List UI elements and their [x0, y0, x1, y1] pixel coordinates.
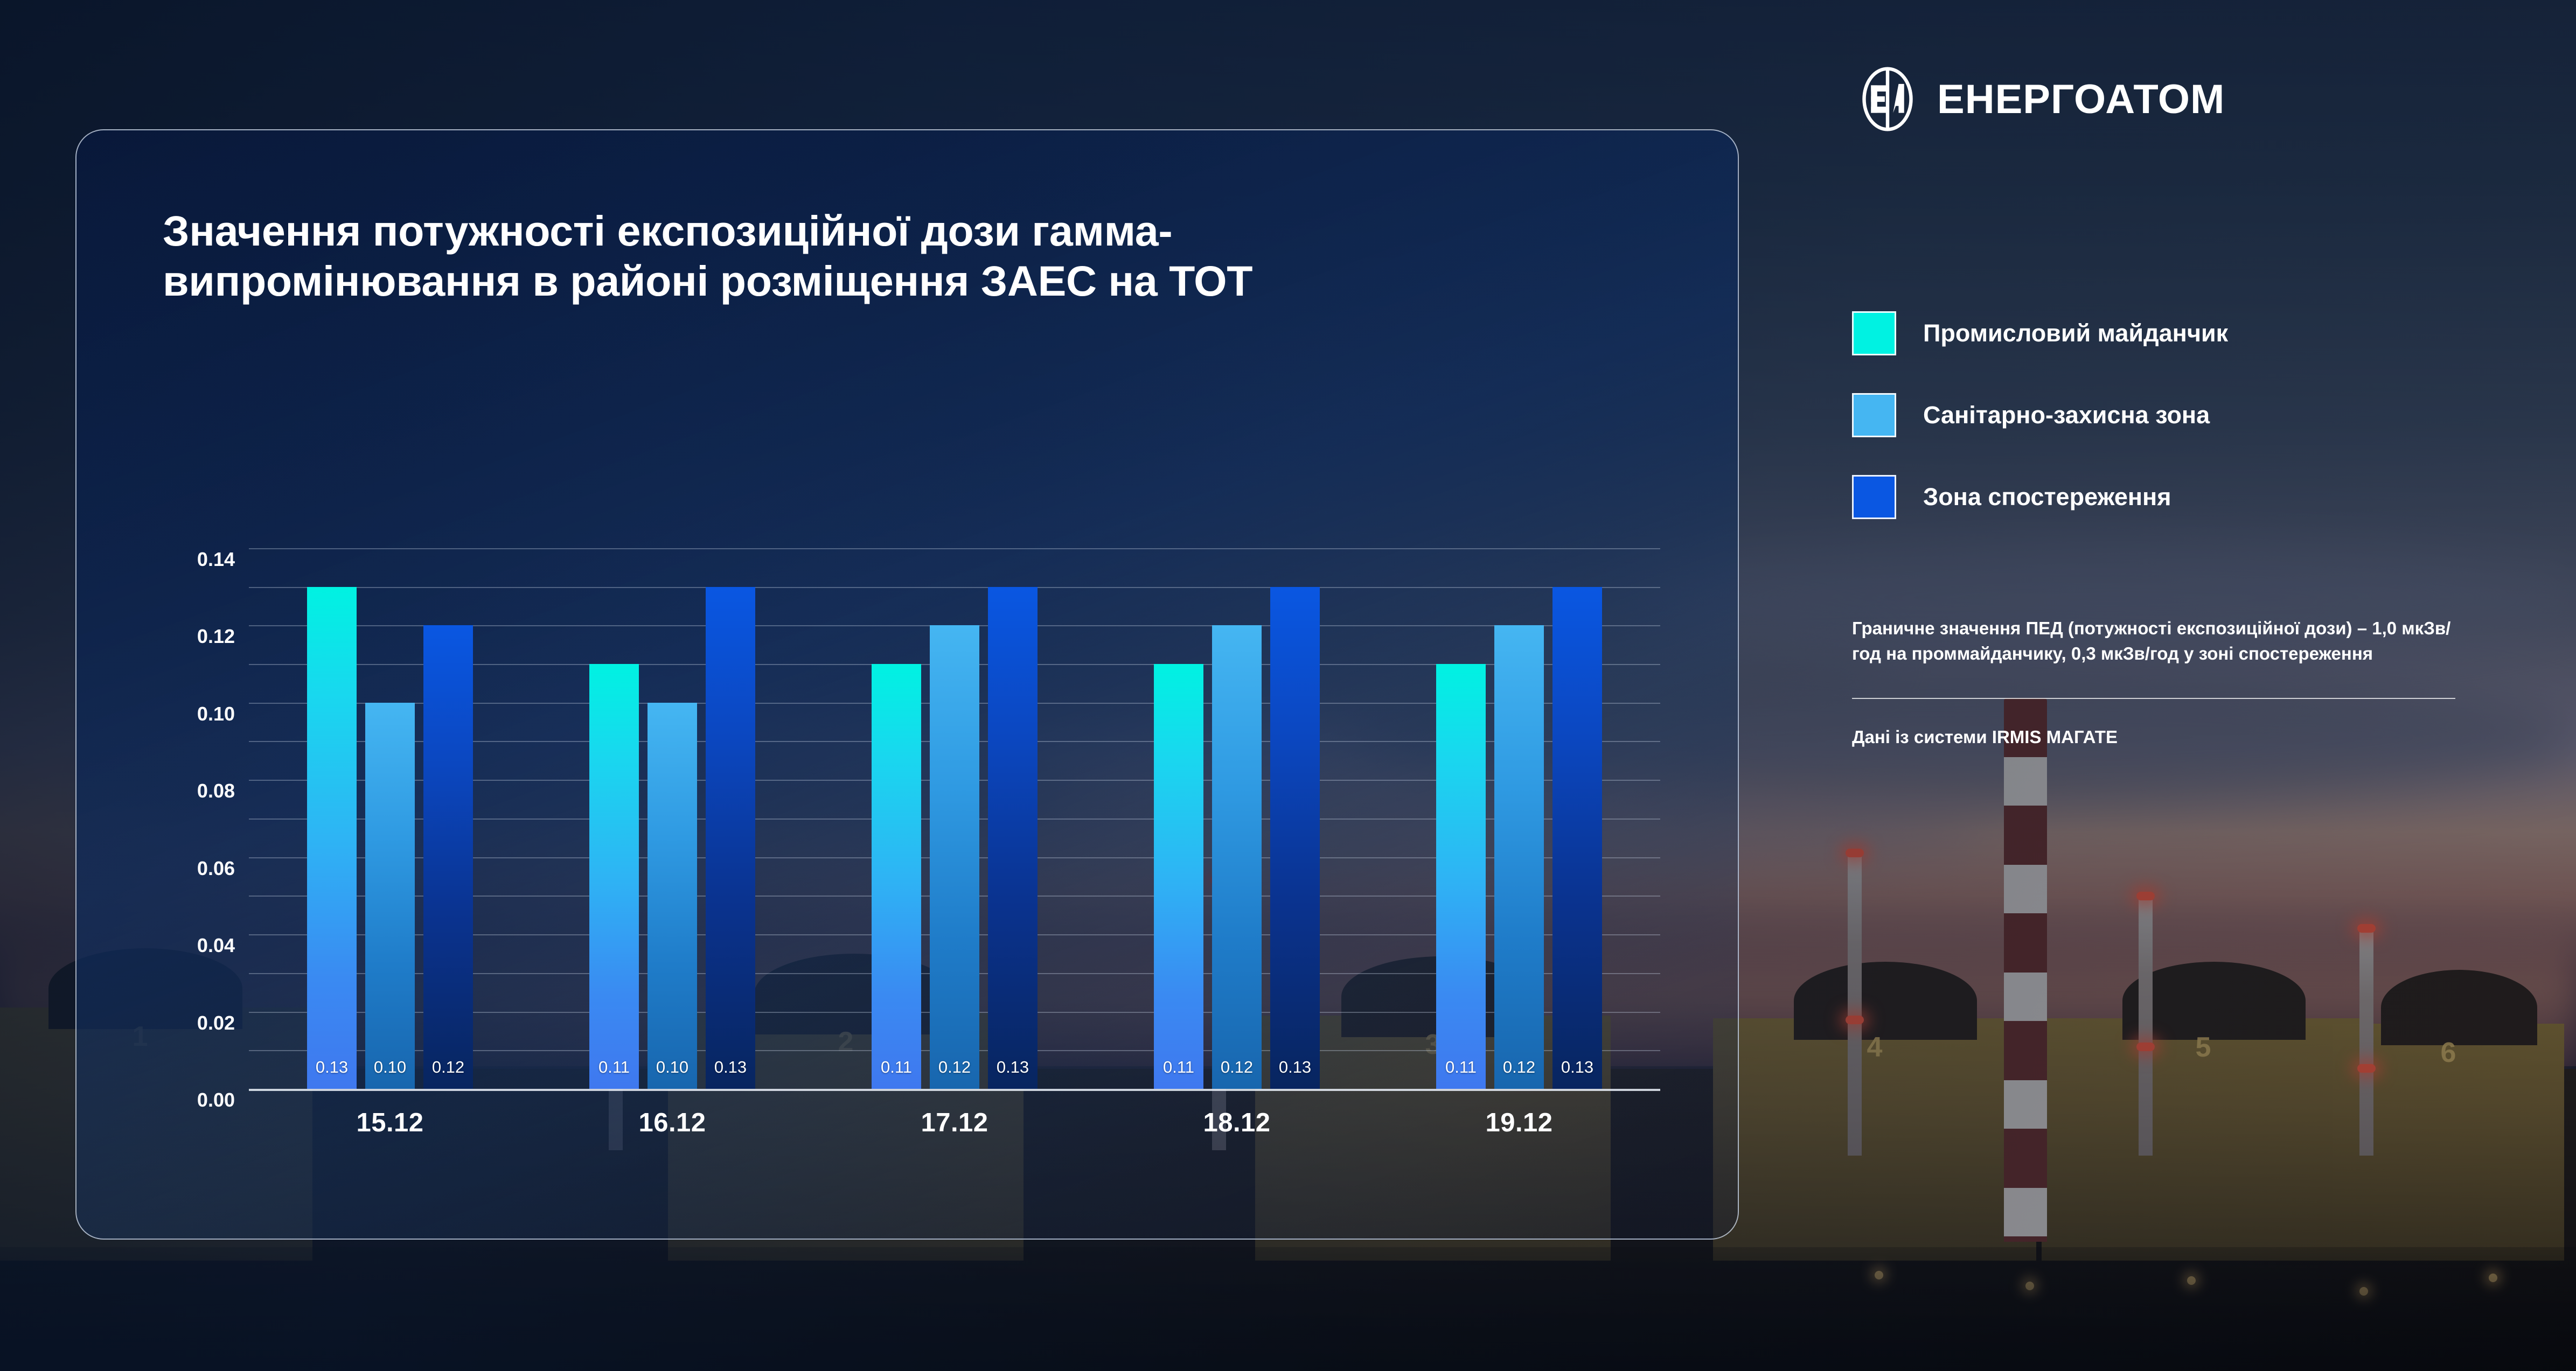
legend-item-label: Зона спостереження — [1923, 483, 2171, 511]
bar[interactable]: 0.12 — [1212, 625, 1262, 1089]
bar-value-label: 0.13 — [714, 1058, 747, 1077]
bar-group: 0.130.100.12 — [249, 529, 531, 1089]
energoatom-ea-oval-monogram-icon — [1853, 65, 1922, 134]
bar[interactable]: 0.13 — [1270, 587, 1320, 1089]
bar[interactable]: 0.12 — [423, 625, 473, 1089]
bar-value-label: 0.13 — [997, 1058, 1029, 1077]
bar[interactable]: 0.13 — [1552, 587, 1602, 1089]
bar[interactable]: 0.11 — [1154, 664, 1203, 1089]
side-panel: ЕНЕРГОАТОМ Промисловий майданчикСанітарн… — [1821, 65, 2521, 747]
logo-wordmark: ЕНЕРГОАТОМ — [1937, 76, 2225, 123]
page-title: Значення потужності експозиційної дози г… — [163, 206, 1509, 306]
y-axis-tick-labels: 0.140.120.100.080.060.040.020.00 — [163, 529, 243, 1089]
bar[interactable]: 0.13 — [706, 587, 755, 1089]
bar[interactable]: 0.10 — [365, 703, 415, 1089]
bar[interactable]: 0.12 — [930, 625, 979, 1089]
bar-chart: 0.140.120.100.080.060.040.020.00 0.130.1… — [163, 529, 1671, 1164]
bar[interactable]: 0.12 — [1494, 625, 1544, 1089]
legend-swatch — [1852, 393, 1896, 437]
bar-groups: 0.130.100.120.110.100.130.110.120.130.11… — [249, 529, 1660, 1089]
chart-legend: Промисловий майданчикСанітарно-захисна з… — [1852, 311, 2521, 519]
x-axis-tick-label: 18.12 — [1096, 1108, 1378, 1138]
legend-swatch — [1852, 311, 1896, 355]
bar[interactable]: 0.10 — [648, 703, 697, 1089]
dose-limit-note: Граничне значення ПЕД (потужності експоз… — [1852, 616, 2455, 667]
energoatom-logo: ЕНЕРГОАТОМ — [1853, 65, 2521, 134]
x-axis-tick-label: 17.12 — [813, 1108, 1096, 1138]
bar-value-label: 0.11 — [598, 1058, 630, 1077]
bar-value-label: 0.12 — [1221, 1058, 1253, 1077]
bar-value-label: 0.11 — [1163, 1058, 1194, 1077]
bar-value-label: 0.13 — [1279, 1058, 1311, 1077]
x-axis-tick-label: 19.12 — [1378, 1108, 1660, 1138]
notes-block: Граничне значення ПЕД (потужності експоз… — [1852, 616, 2455, 747]
data-source-note: Дані із системи IRMIS МАГАТЕ — [1852, 727, 2455, 747]
bar-value-label: 0.11 — [1445, 1058, 1477, 1077]
bar[interactable]: 0.11 — [872, 664, 921, 1089]
legend-item[interactable]: Зона спостереження — [1852, 475, 2521, 519]
bar-value-label: 0.13 — [1561, 1058, 1593, 1077]
bar-group: 0.110.100.13 — [531, 529, 813, 1089]
bar-group: 0.110.120.13 — [813, 529, 1096, 1089]
x-axis-tick-labels: 15.1216.1217.1218.1219.12 — [249, 1108, 1660, 1138]
bar-group: 0.110.120.13 — [1378, 529, 1660, 1089]
bar-value-label: 0.12 — [938, 1058, 971, 1077]
notes-divider — [1852, 698, 2455, 699]
bar-group: 0.110.120.13 — [1096, 529, 1378, 1089]
bar-value-label: 0.11 — [881, 1058, 912, 1077]
bar[interactable]: 0.11 — [589, 664, 639, 1089]
bar[interactable]: 0.11 — [1436, 664, 1486, 1089]
bar-value-label: 0.12 — [432, 1058, 464, 1077]
legend-item[interactable]: Промисловий майданчик — [1852, 311, 2521, 355]
plot-area: 0.130.100.120.110.100.130.110.120.130.11… — [249, 529, 1660, 1089]
bar-value-label: 0.13 — [316, 1058, 348, 1077]
bar[interactable]: 0.13 — [988, 587, 1038, 1089]
legend-item[interactable]: Санітарно-захисна зона — [1852, 393, 2521, 437]
gridline-major — [249, 1089, 1660, 1091]
bar[interactable]: 0.13 — [307, 587, 357, 1089]
legend-swatch — [1852, 475, 1896, 519]
x-axis-tick-label: 16.12 — [531, 1108, 813, 1138]
bar-value-label: 0.10 — [656, 1058, 688, 1077]
legend-item-label: Санітарно-захисна зона — [1923, 401, 2210, 429]
bar-value-label: 0.10 — [374, 1058, 406, 1077]
x-axis-tick-label: 15.12 — [249, 1108, 531, 1138]
legend-item-label: Промисловий майданчик — [1923, 319, 2228, 347]
chart-card: Значення потужності експозиційної дози г… — [75, 129, 1739, 1240]
bar-value-label: 0.12 — [1503, 1058, 1535, 1077]
